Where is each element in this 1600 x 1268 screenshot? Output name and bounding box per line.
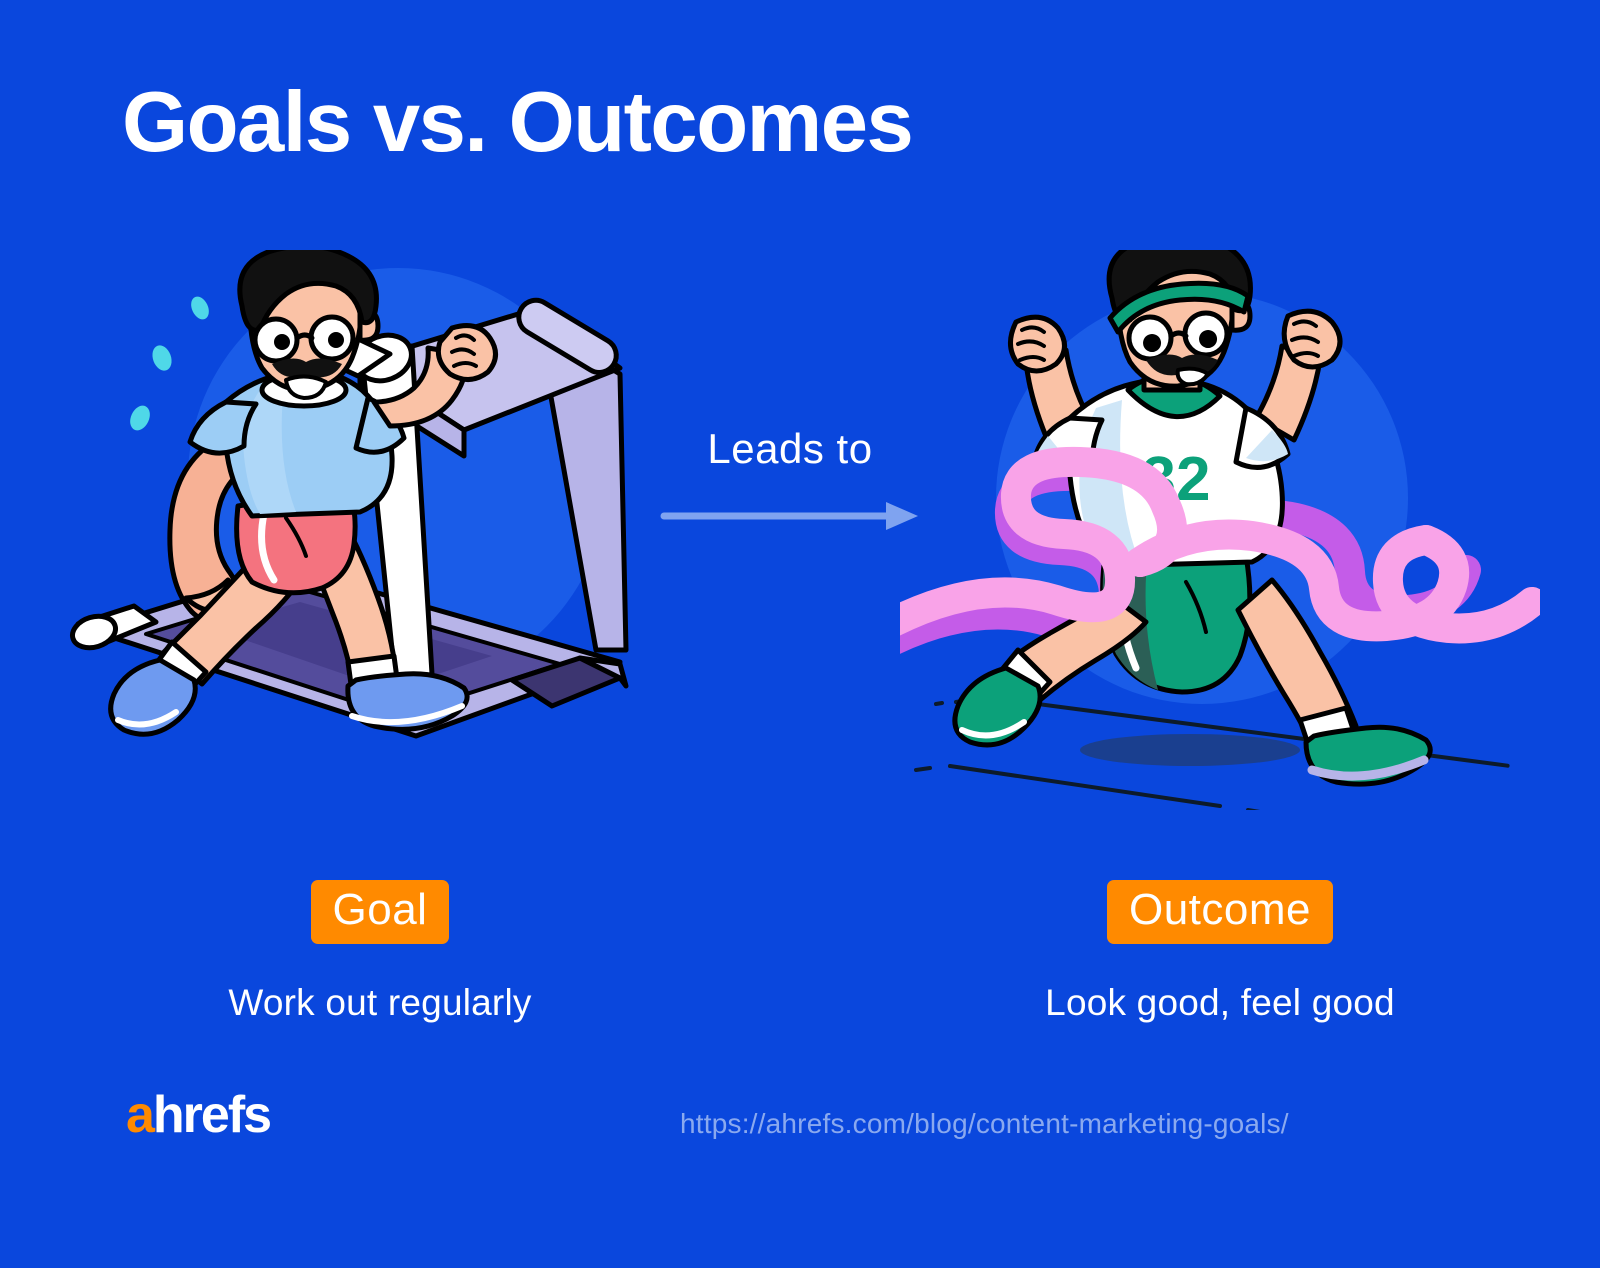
logo-text-hrefs: hrefs	[153, 1086, 270, 1144]
badge-outcome: Outcome	[1107, 880, 1333, 944]
illustration-treadmill-runner	[60, 250, 700, 810]
caption-block-outcome: Outcome Look good, feel good	[900, 880, 1540, 1024]
caption-text-outcome: Look good, feel good	[900, 982, 1540, 1024]
caption-block-goal: Goal Work out regularly	[60, 880, 700, 1024]
ahrefs-logo: ahrefs	[126, 1089, 270, 1141]
source-url: https://ahrefs.com/blog/content-marketin…	[680, 1108, 1289, 1140]
arrow-right-icon	[660, 501, 920, 531]
panel-goal	[60, 250, 700, 810]
runner-shadow	[1080, 734, 1300, 766]
panel-outcome: 32	[900, 250, 1540, 810]
badge-goal: Goal	[311, 880, 450, 944]
caption-text-goal: Work out regularly	[60, 982, 700, 1024]
logo-letter-a: a	[126, 1086, 153, 1144]
infographic-canvas: Goals vs. Outcomes	[0, 0, 1600, 1268]
illustration-finish-line-runner: 32	[900, 250, 1540, 810]
page-title: Goals vs. Outcomes	[122, 78, 912, 167]
connector-leads-to: Leads to	[660, 425, 920, 536]
leads-to-label: Leads to	[660, 425, 920, 473]
